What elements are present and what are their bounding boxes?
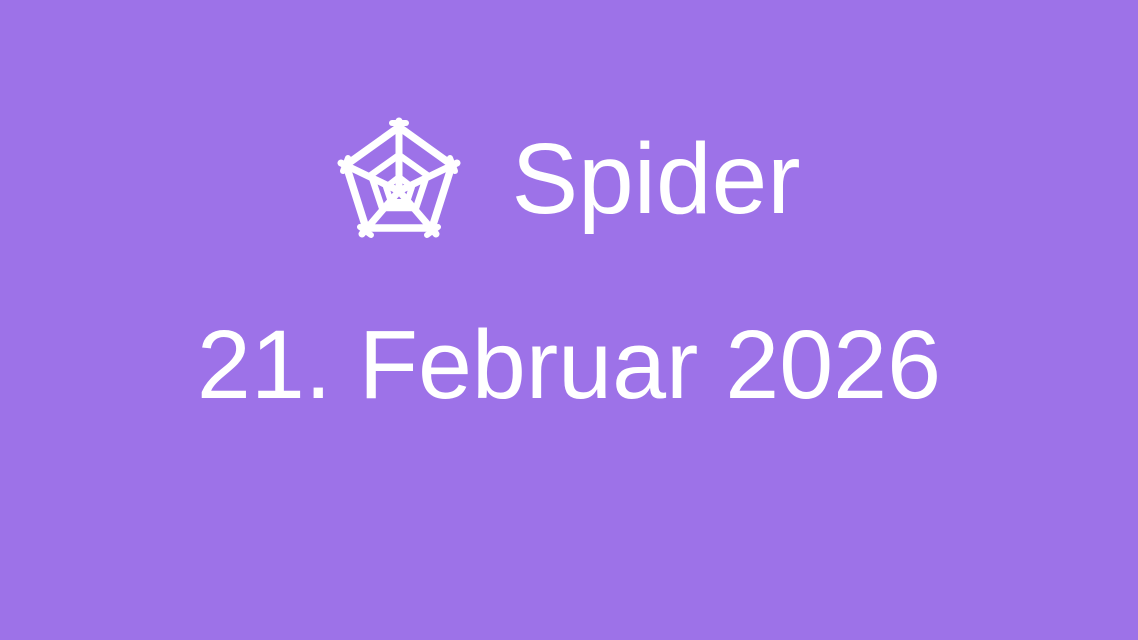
spider-web-icon [337,117,461,241]
page-title: Spider [511,117,800,241]
splash-screen: Spider 21. Februar 2026 [0,0,1138,640]
date-row: 21. Februar 2026 [0,300,1138,430]
splash-date: 21. Februar 2026 [197,300,941,430]
title-row: Spider [0,104,1138,254]
